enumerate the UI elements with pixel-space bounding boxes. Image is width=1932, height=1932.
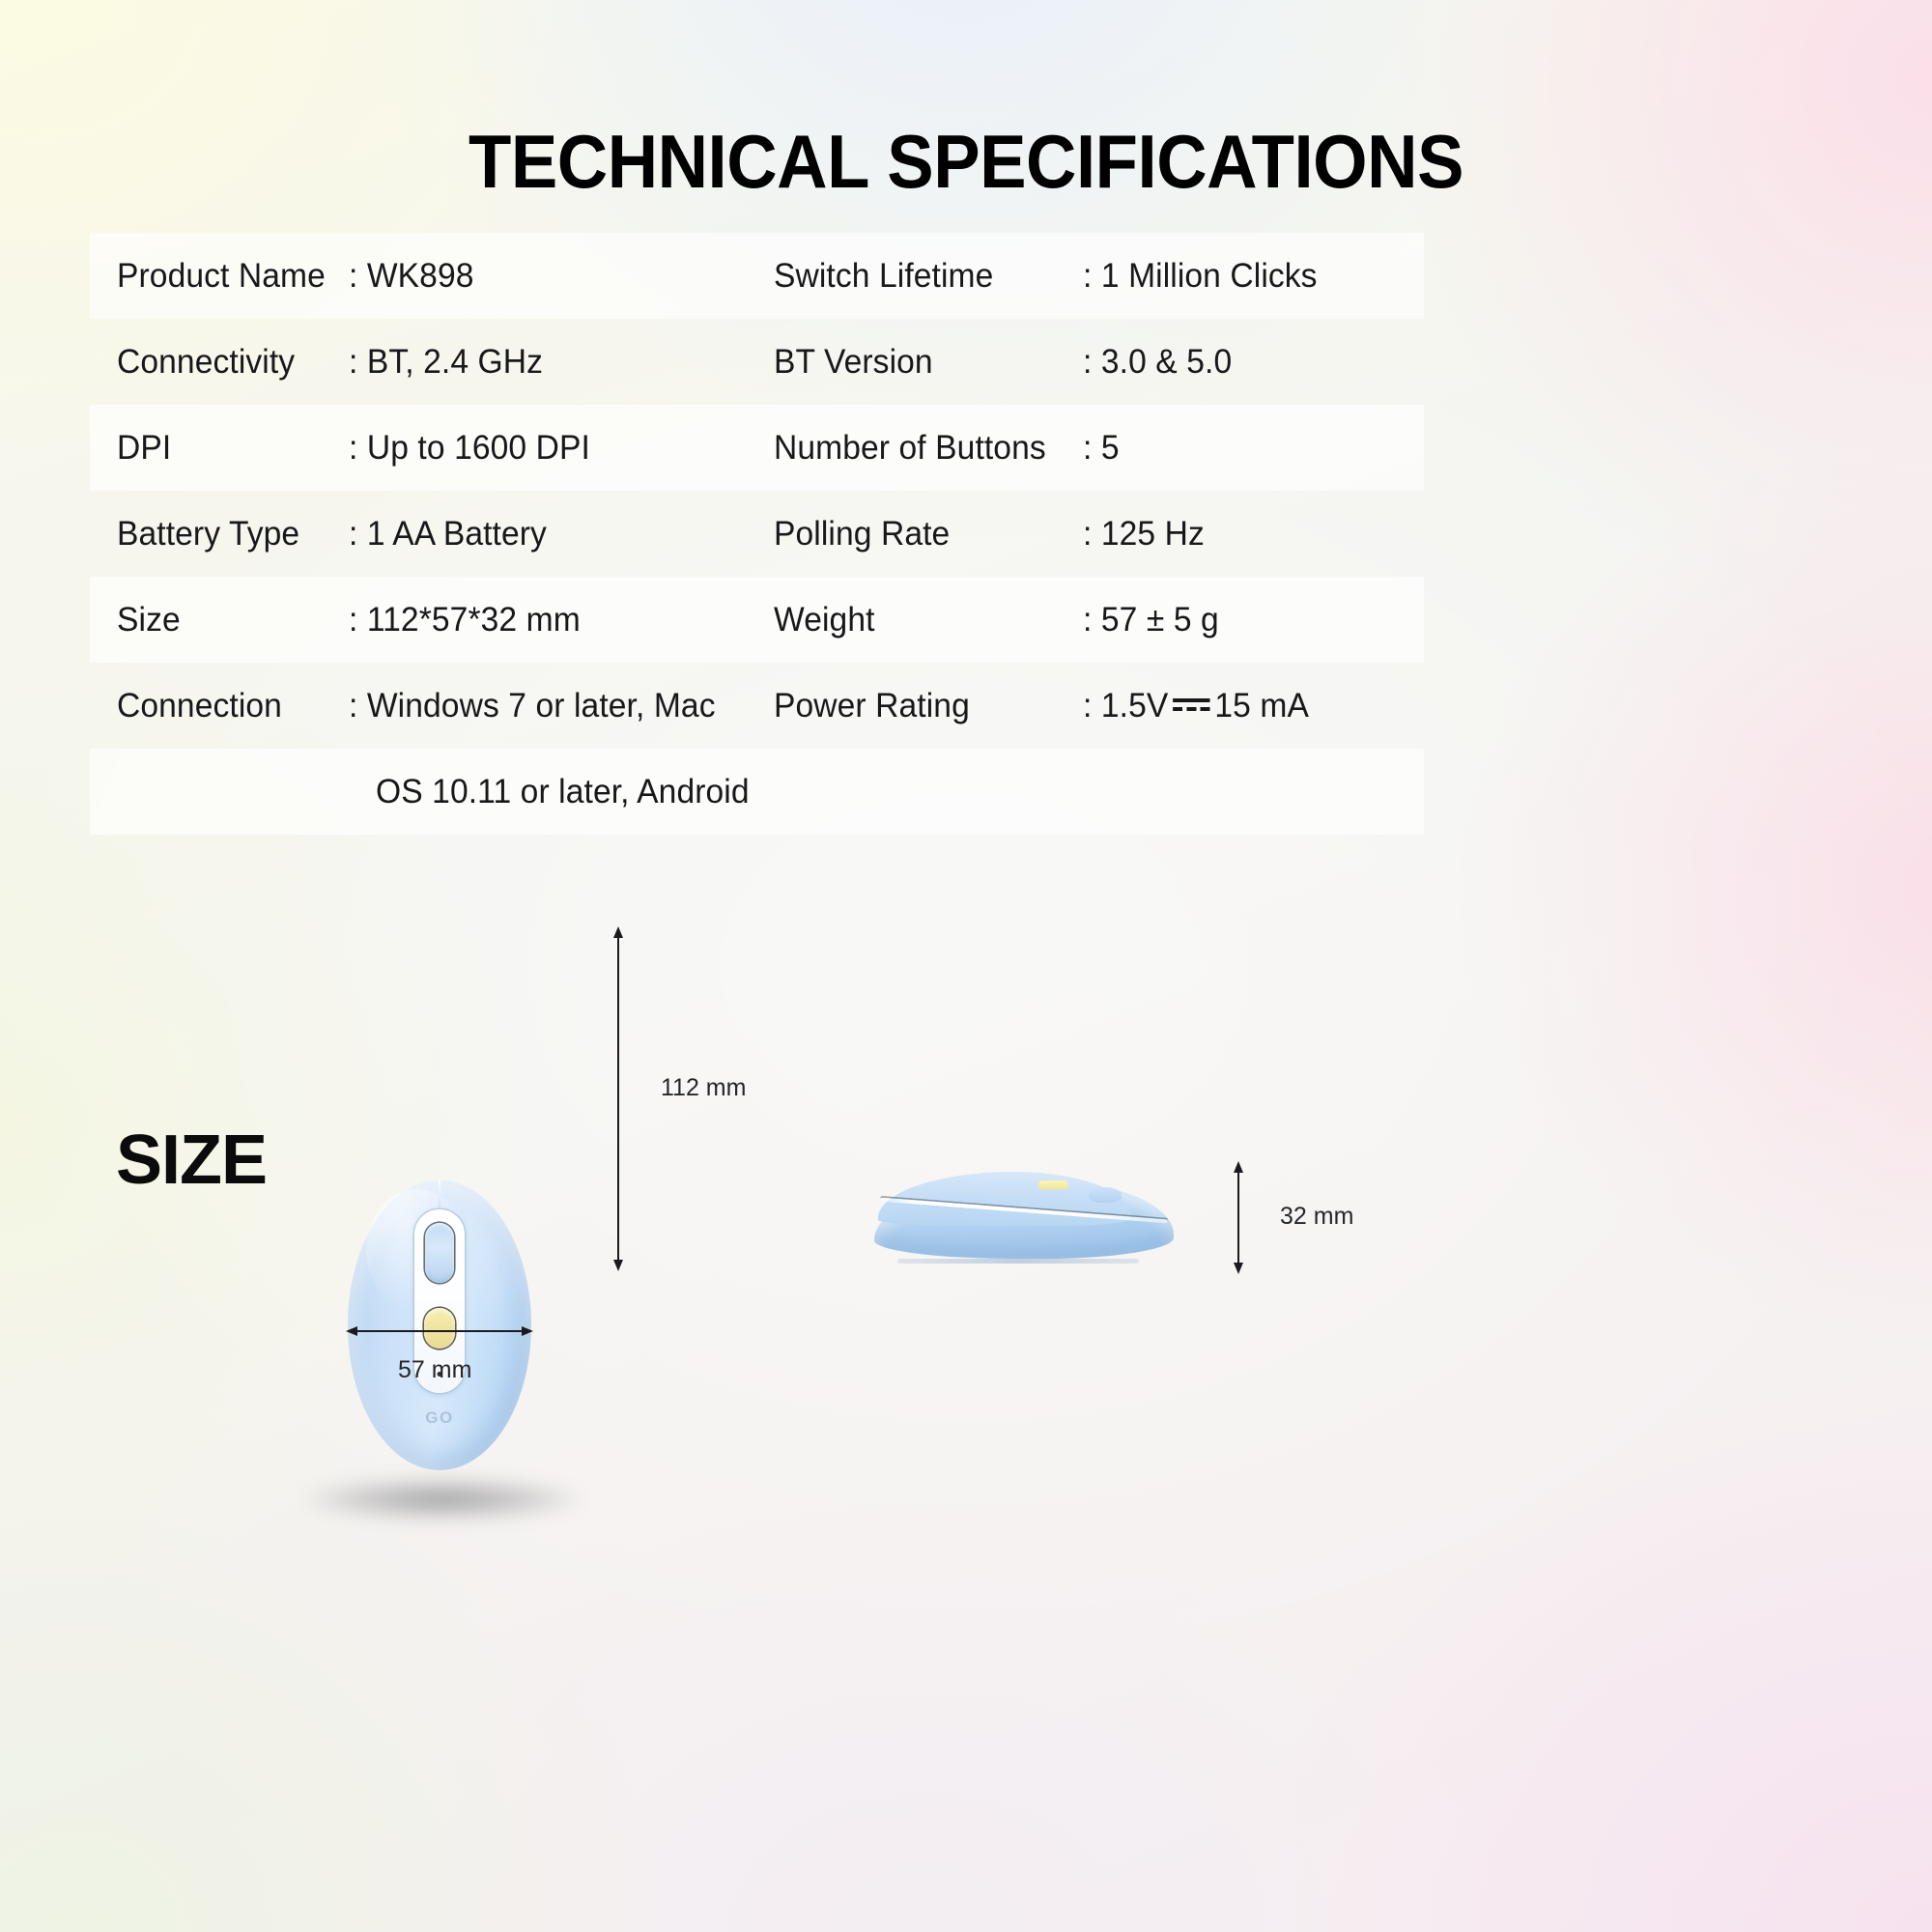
dpi-button-icon (424, 1308, 455, 1349)
spec-value-cell-2: : 1 Million Clicks (1083, 233, 1424, 319)
table-row: DPI : Up to 1600 DPI Number of Buttons :… (90, 405, 1424, 491)
spec-label-cell-2: Switch Lifetime (774, 233, 1083, 319)
spec-label: DPI (117, 429, 171, 468)
spec-value: : 125 Hz (1083, 515, 1205, 554)
spec-label-cell-2: Number of Buttons (774, 405, 1083, 491)
spec-label-cell: DPI (90, 405, 349, 491)
infographic-page: TECHNICAL SPECIFICATIONS Product Name : … (0, 0, 1932, 1932)
spec-value-cell: : WK898 (349, 233, 774, 319)
width-dimension-label: 57 mm (398, 1356, 471, 1384)
spec-value-cell-2: : 5 (1083, 405, 1424, 491)
spec-value: : WK898 (349, 257, 474, 296)
spec-value-cell-2: : 57 ± 5 g (1083, 577, 1424, 663)
spec-label: Size (117, 601, 181, 639)
power-rating-value: : 1.5V15 mA (1083, 687, 1309, 725)
mouse-top-view-illustration: GO (348, 1180, 531, 1470)
spec-label-cell: Product Name (90, 233, 349, 319)
spec-label-cell: Connection (90, 663, 349, 749)
spec-label-cell: Size (90, 577, 349, 663)
connection-continuation-text: OS 10.11 or later, Android (376, 773, 750, 811)
table-row-continuation: OS 10.11 or later, Android (90, 749, 1424, 835)
spec-value: : 5 (1083, 429, 1120, 468)
table-row: Product Name : WK898 Switch Lifetime : 1… (90, 233, 1424, 319)
length-dimension-arrow (617, 937, 619, 1261)
spec-value-cell: : Up to 1600 DPI (349, 405, 774, 491)
mouse-side-view-illustration (874, 1164, 1174, 1261)
spec-value: : 57 ± 5 g (1083, 601, 1219, 639)
spec-value-cell-2: : 1.5V15 mA (1083, 663, 1424, 749)
spec-label: Connection (117, 687, 282, 725)
page-title: TECHNICAL SPECIFICATIONS (68, 124, 1864, 199)
spec-value: : Windows 7 or later, Mac (349, 687, 716, 725)
spec-value-cell-2: : 3.0 & 5.0 (1083, 319, 1424, 405)
specifications-table: Product Name : WK898 Switch Lifetime : 1… (90, 233, 1424, 835)
spec-value-cell: : 112*57*32 mm (349, 577, 774, 663)
scroll-wheel-icon (425, 1223, 454, 1283)
spec-label: Product Name (117, 257, 326, 296)
spec-value: : 112*57*32 mm (349, 601, 581, 639)
table-row: Size : 112*57*32 mm Weight : 57 ± 5 g (90, 577, 1424, 663)
size-section-heading: SIZE (116, 1125, 267, 1195)
width-dimension-arrow (356, 1330, 523, 1332)
spec-value-cell: : Windows 7 or later, Mac (349, 663, 774, 749)
height-dimension-label: 32 mm (1280, 1203, 1353, 1231)
spec-label-cell-2: Power Rating (774, 663, 1083, 749)
spec-label-cell: Battery Type (90, 491, 349, 577)
spec-value: : BT, 2.4 GHz (349, 343, 543, 382)
spec-label: Polling Rate (774, 515, 950, 554)
scroll-wheel-side-icon (1089, 1187, 1122, 1203)
spec-label: Weight (774, 601, 875, 639)
spec-value-cell: : 1 AA Battery (349, 491, 774, 577)
dpi-button-side-icon (1038, 1180, 1068, 1189)
table-row: Connectivity : BT, 2.4 GHz BT Version : … (90, 319, 1424, 405)
power-rating-current: 15 mA (1214, 687, 1309, 724)
spec-label: Number of Buttons (774, 429, 1046, 468)
dc-current-icon (1173, 696, 1209, 713)
spec-label-cell-2: BT Version (774, 319, 1083, 405)
spec-label-cell-2: Polling Rate (774, 491, 1083, 577)
mouse-base-edge (897, 1259, 1139, 1264)
spec-value: : Up to 1600 DPI (349, 429, 590, 468)
spec-label: Connectivity (117, 343, 295, 382)
spec-label: Switch Lifetime (774, 257, 993, 296)
spec-label-cell-2: Weight (774, 577, 1083, 663)
length-dimension-label: 112 mm (661, 1074, 746, 1102)
height-dimension-arrow (1237, 1172, 1239, 1264)
mouse-top-shadow (302, 1478, 582, 1520)
spec-value: : 3.0 & 5.0 (1083, 343, 1232, 382)
brand-logo: GO (425, 1408, 453, 1428)
spec-label: Battery Type (117, 515, 299, 554)
table-row: Connection : Windows 7 or later, Mac Pow… (90, 663, 1424, 749)
spec-label: BT Version (774, 343, 933, 382)
spec-value: : 1 AA Battery (349, 515, 547, 554)
spec-value: : 1 Million Clicks (1083, 257, 1318, 296)
spec-label: Power Rating (774, 687, 970, 725)
table-row: Battery Type : 1 AA Battery Polling Rate… (90, 491, 1424, 577)
spec-label-cell: Connectivity (90, 319, 349, 405)
spec-value-cell: : BT, 2.4 GHz (349, 319, 774, 405)
power-rating-voltage: : 1.5V (1083, 687, 1168, 724)
spec-value-cell-2: : 125 Hz (1083, 491, 1424, 577)
